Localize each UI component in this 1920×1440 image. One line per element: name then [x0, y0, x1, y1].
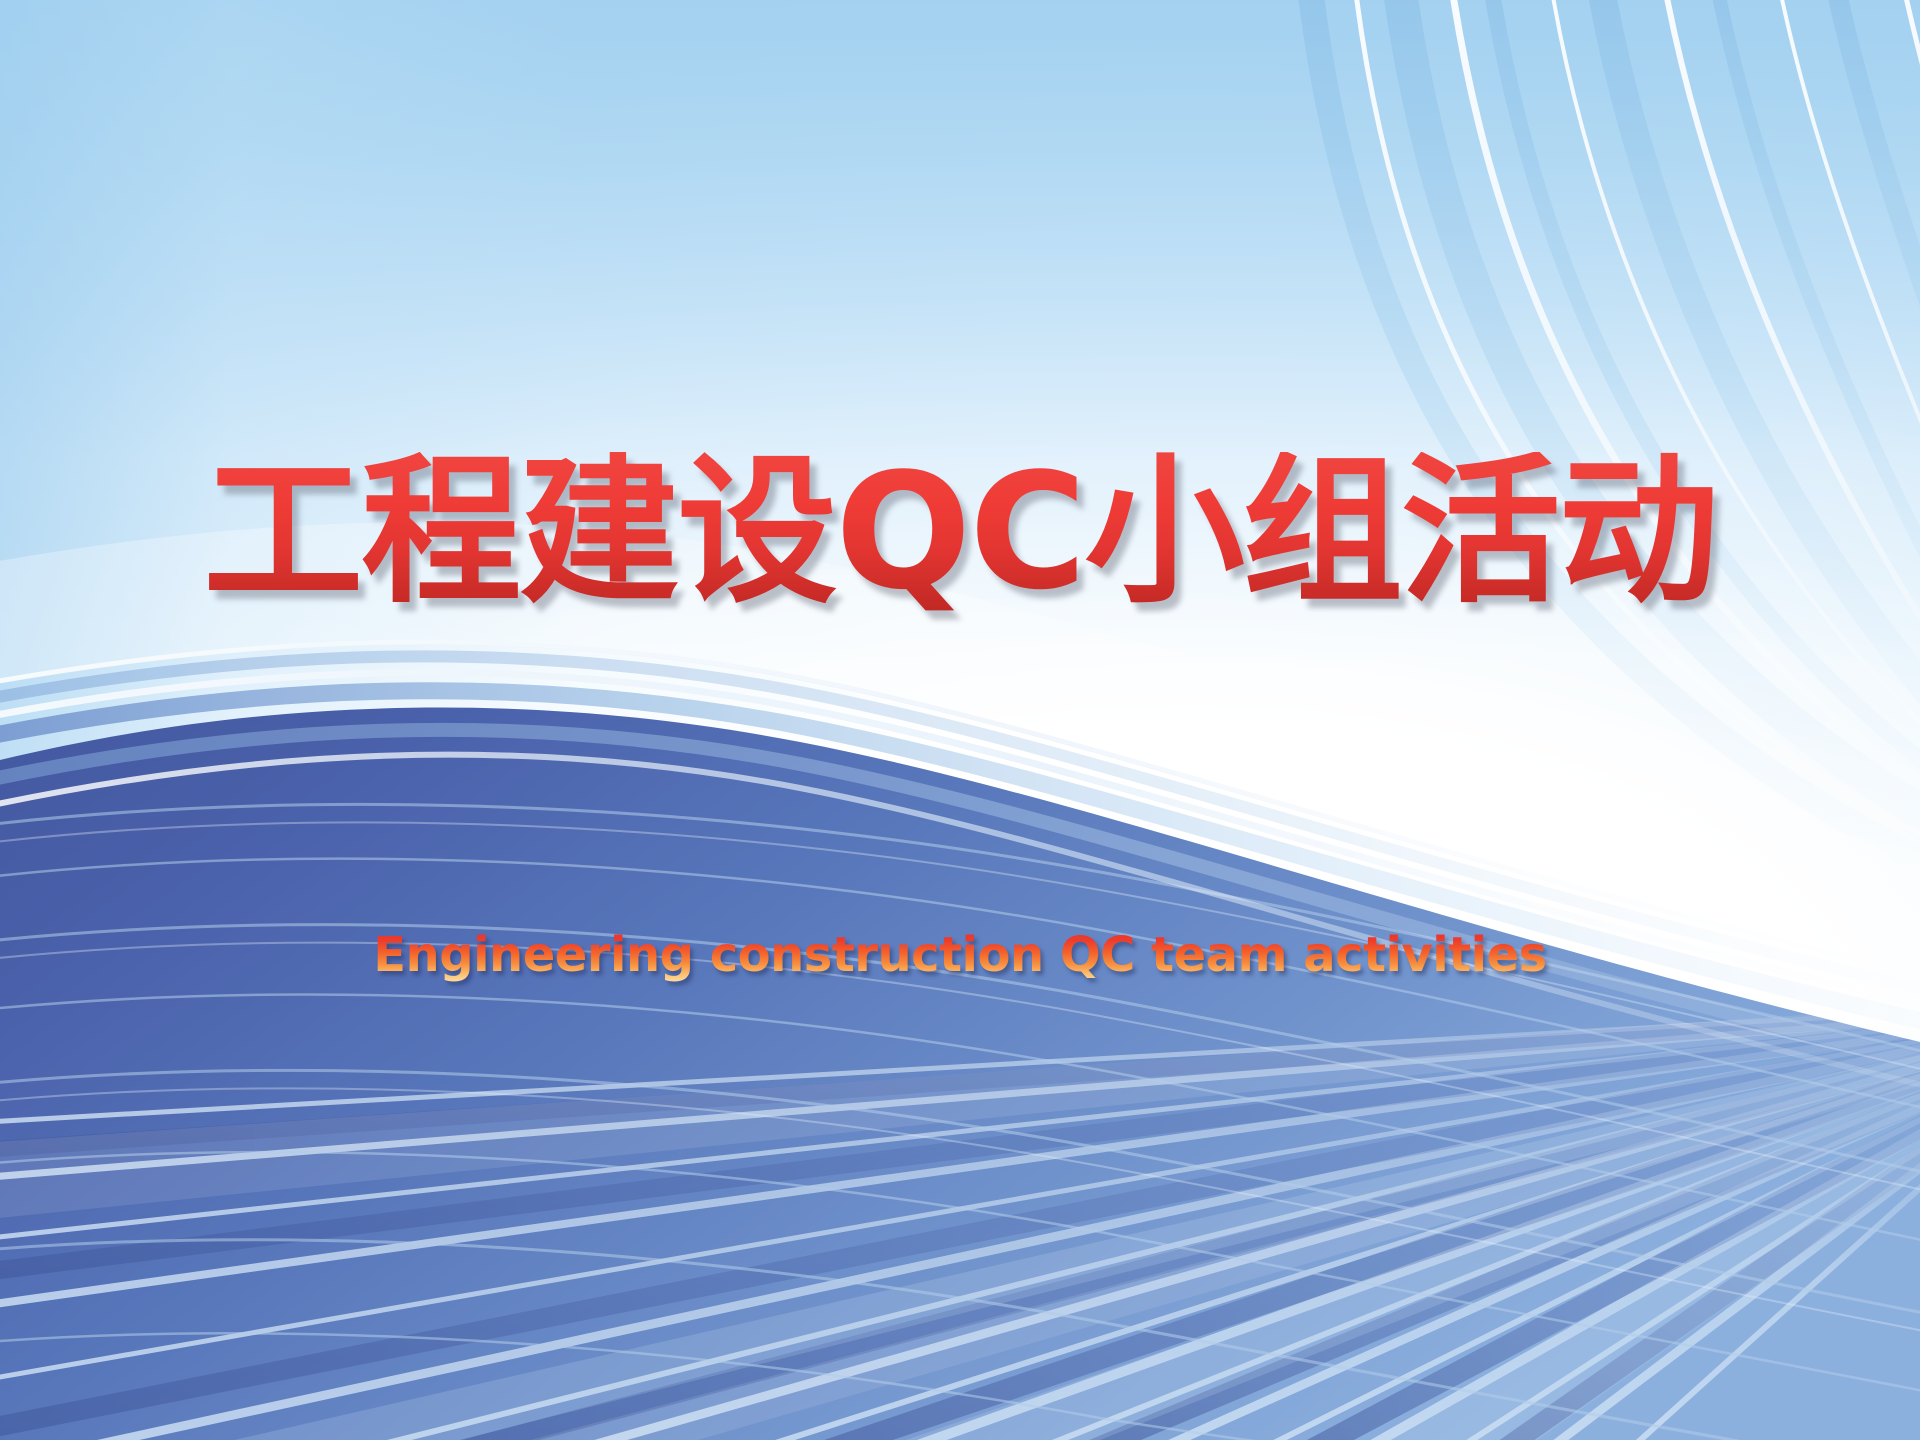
slide-title-container: 工程建设QC小组活动 [0, 452, 1920, 612]
title-slide: 工程建设QC小组活动 Engineering construction QC t… [0, 0, 1920, 1440]
slide-subtitle-container: Engineering construction QC team activit… [0, 928, 1920, 983]
wave-crest-ribbons [0, 0, 1920, 1440]
slide-subtitle: Engineering construction QC team activit… [373, 928, 1546, 983]
slide-title: 工程建设QC小组活动 [203, 452, 1716, 612]
